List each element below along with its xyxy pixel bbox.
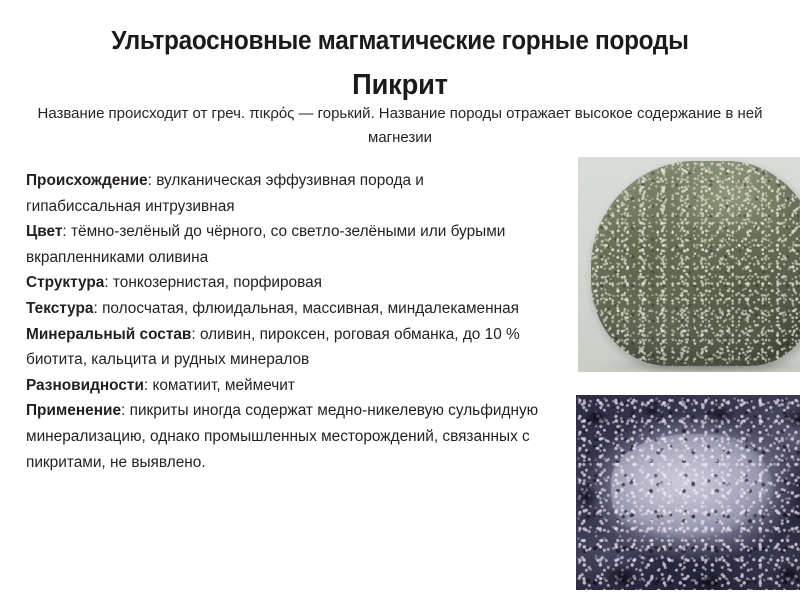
rock-mass	[591, 161, 800, 365]
property-application-term: Применение	[26, 402, 121, 419]
mineral-grain-texture	[591, 161, 800, 365]
property-varieties: Разновидности: коматиит, меймечит	[26, 373, 542, 399]
property-mineral-composition-term: Минеральный состав	[26, 326, 191, 343]
etymology-note: Название происходит от греч. πικρός — го…	[32, 102, 769, 149]
property-structure-value: тонкозернистая, порфировая	[113, 274, 322, 291]
cast-shadow	[598, 351, 800, 370]
property-color-separator: :	[62, 223, 71, 240]
picrite-specimen-render	[578, 157, 800, 372]
property-structure-term: Структура	[26, 274, 104, 291]
property-application-separator: :	[121, 402, 130, 419]
property-color-value: тёмно-зелёный до чёрного, со светло-зелё…	[26, 223, 505, 266]
komatiite-outcrop-render	[576, 395, 800, 590]
property-mineral-composition-separator: :	[191, 326, 200, 343]
property-texture: Текстура: полосчатая, флюидальная, масси…	[26, 296, 542, 322]
property-color-term: Цвет	[26, 223, 62, 240]
property-texture-separator: :	[94, 300, 103, 317]
property-varieties-value: коматиит, меймечит	[152, 377, 294, 394]
picrite-hand-specimen-photo	[578, 157, 800, 372]
rock-name-heading: Пикрит	[24, 68, 776, 103]
property-origin-separator: :	[148, 172, 157, 189]
property-color: Цвет: тёмно-зелёный до чёрного, со светл…	[26, 219, 542, 270]
vesicle-cavities	[576, 395, 800, 590]
property-texture-value: полосчатая, флюидальная, массивная, минд…	[102, 300, 519, 317]
property-application: Применение: пикриты иногда содержат медн…	[26, 398, 542, 475]
property-texture-term: Текстура	[26, 300, 94, 317]
slide-canvas: Ультраосновные магматические горные поро…	[0, 0, 800, 599]
property-origin-term: Происхождение	[26, 172, 148, 189]
property-mineral-composition: Минеральный состав: оливин, пироксен, ро…	[26, 322, 542, 373]
property-structure-separator: :	[104, 274, 113, 291]
properties-list: Происхождение: вулканическая эффузивная …	[26, 168, 542, 475]
page-title: Ультраосновные магматические горные поро…	[18, 26, 782, 56]
komatiite-outcrop-photo	[576, 395, 800, 590]
property-origin: Происхождение: вулканическая эффузивная …	[26, 168, 542, 219]
property-varieties-term: Разновидности	[26, 377, 144, 394]
property-structure: Структура: тонкозернистая, порфировая	[26, 270, 542, 296]
